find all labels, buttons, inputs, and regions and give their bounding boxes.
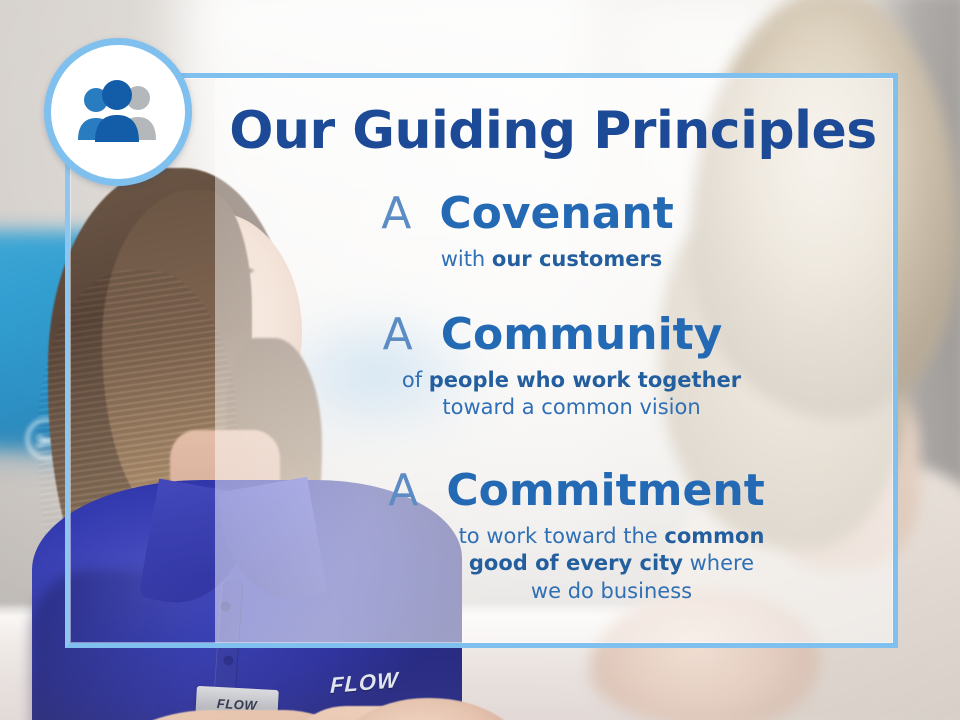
principle-commitment: A Commitment to work toward the common g… (215, 468, 898, 606)
subtext-part-bold: people who work together (429, 368, 741, 392)
principle-subtext-line: good of every city where (325, 550, 898, 578)
principle-subtext-line: to work toward the common (325, 523, 898, 551)
principle-community: A Community of people who work together … (215, 312, 898, 422)
principle-heading: A Commitment (215, 468, 898, 515)
principle-article: A (388, 465, 432, 516)
principle-subtext: of people who work together toward a com… (215, 367, 898, 422)
people-badge (44, 38, 192, 186)
principle-subtext-line: of people who work together (245, 367, 898, 395)
principle-covenant: A Covenant with our customers (215, 191, 898, 273)
principle-heading: A Community (215, 312, 898, 359)
subtext-part: to work toward the (459, 524, 665, 548)
people-group-icon (70, 76, 166, 148)
subtext-part-bold: our customers (492, 247, 662, 271)
principle-subtext-line: we do business (325, 578, 898, 606)
principle-article: A (383, 309, 427, 360)
guiding-principles-graphic: FLOW FLOW Our G (0, 0, 960, 720)
subtext-part: with (441, 247, 492, 271)
principle-subtext-line: toward a common vision (245, 394, 898, 422)
principle-keyword: Community (441, 309, 723, 360)
principle-article: A (381, 188, 425, 239)
subtext-part-bold: common (664, 524, 764, 548)
subtext-part: of (402, 368, 429, 392)
subtext-part: we do business (531, 579, 692, 603)
principle-heading: A Covenant (215, 191, 898, 238)
principle-keyword: Commitment (446, 465, 764, 516)
polo-button-bottom (224, 656, 233, 665)
subtext-part: toward a common vision (442, 395, 700, 419)
principle-keyword: Covenant (439, 188, 673, 239)
subtext-part: where (683, 551, 754, 575)
page-title: Our Guiding Principles (223, 105, 883, 157)
principle-subtext-line: with our customers (215, 246, 888, 274)
principles-content: Our Guiding Principles A Covenant with o… (215, 73, 898, 648)
principle-subtext: to work toward the common good of every … (215, 523, 898, 606)
subtext-part-bold: good of every city (469, 551, 683, 575)
principle-subtext: with our customers (215, 246, 898, 274)
